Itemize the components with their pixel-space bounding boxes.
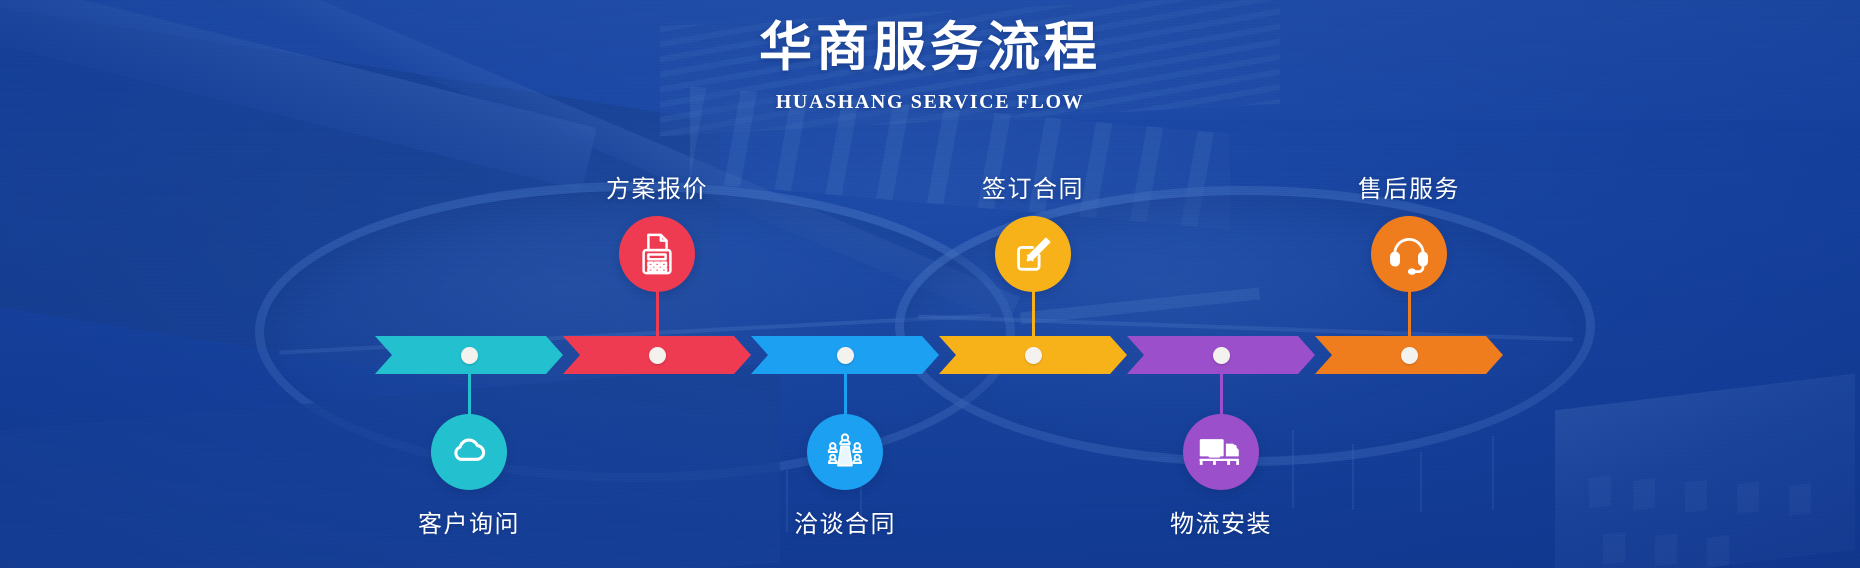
flow-step-connector-line <box>656 290 659 337</box>
page-title: 华商服务流程 <box>0 18 1860 79</box>
headset-support-icon[interactable] <box>1371 216 1447 292</box>
flow-step-label-3: 洽谈合同 <box>750 504 940 539</box>
flow-step-label-6: 售后服务 <box>1314 169 1504 204</box>
flow-step-5[interactable]: 物流安装 <box>1126 414 1316 539</box>
flow-step-4[interactable]: 签订合同 <box>938 169 1128 292</box>
flow-chevron-marker-dot <box>649 347 666 364</box>
flow-chevron-4[interactable] <box>939 336 1127 374</box>
page-subtitle: HUASHANG SERVICE FLOW <box>0 91 1860 114</box>
flow-step-connector-line <box>1032 290 1035 337</box>
flow-step-label-4: 签订合同 <box>938 169 1128 204</box>
banner-heading: 华商服务流程 HUASHANG SERVICE FLOW <box>0 18 1860 114</box>
flow-step-2[interactable]: 方案报价 <box>562 169 752 292</box>
flow-chevron-2[interactable] <box>563 336 751 374</box>
flow-chevron-marker-dot <box>1213 347 1230 364</box>
meeting-table-icon[interactable] <box>807 414 883 490</box>
calculator-receipt-icon[interactable] <box>619 216 695 292</box>
service-flow-banner: 华商服务流程 HUASHANG SERVICE FLOW 客户询问方案报价洽谈合… <box>0 0 1860 568</box>
flow-step-3[interactable]: 洽谈合同 <box>750 414 940 539</box>
flow-step-label-2: 方案报价 <box>562 169 752 204</box>
flow-chevron-marker-dot <box>1401 347 1418 364</box>
flow-chevron-marker-dot <box>1025 347 1042 364</box>
flow-step-label-1: 客户询问 <box>374 504 564 539</box>
flow-step-6[interactable]: 售后服务 <box>1314 169 1504 292</box>
flow-step-1[interactable]: 客户询问 <box>374 414 564 539</box>
flow-chevron-strip <box>375 336 1503 374</box>
pencil-edit-icon[interactable] <box>995 216 1071 292</box>
flow-chevron-marker-dot <box>837 347 854 364</box>
flow-chevron-6[interactable] <box>1315 336 1503 374</box>
flow-step-connector-line <box>468 367 471 415</box>
flow-step-connector-line <box>844 367 847 415</box>
cloud-icon[interactable] <box>431 414 507 490</box>
delivery-truck-icon[interactable] <box>1183 414 1259 490</box>
flow-chevron-marker-dot <box>461 347 478 364</box>
flow-step-label-5: 物流安装 <box>1126 504 1316 539</box>
flow-step-connector-line <box>1220 367 1223 415</box>
flow-step-connector-line <box>1408 290 1411 337</box>
